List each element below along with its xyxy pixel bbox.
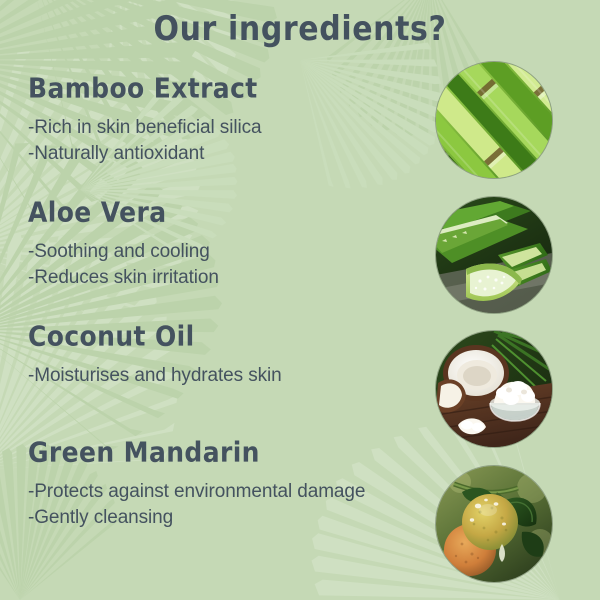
ingredient-block-green-mandarin: Green Mandarin -Protects against environ… [28,436,403,531]
ingredient-heading: Bamboo Extract [28,72,403,104]
green-mandarin-photo [436,466,552,582]
aloe-vera-photo [436,197,552,313]
ingredient-heading: Green Mandarin [28,436,403,468]
ingredient-benefit: -Rich in skin beneficial silica [28,115,403,141]
ingredients-poster: Our ingredients? Bamboo Extract -Rich in… [0,0,600,600]
bamboo-photo [436,62,552,178]
ingredient-benefit: -Protects against environmental damage [28,479,403,505]
ingredient-benefit: -Moisturises and hydrates skin [28,363,403,389]
ingredient-block-bamboo-extract: Bamboo Extract -Rich in skin beneficial … [28,72,403,167]
ingredient-heading: Aloe Vera [28,196,403,228]
coconut-photo [436,331,552,447]
ingredient-heading: Coconut Oil [28,320,403,352]
page-title: Our ingredients? [0,10,600,49]
ingredient-block-aloe-vera: Aloe Vera -Soothing and cooling -Reduces… [28,196,403,291]
ingredient-benefit: -Soothing and cooling [28,239,403,265]
ingredient-benefit: -Reduces skin irritation [28,265,403,291]
ingredient-benefit: -Naturally antioxidant [28,141,403,167]
ingredient-block-coconut-oil: Coconut Oil -Moisturises and hydrates sk… [28,320,403,389]
ingredient-benefit: -Gently cleansing [28,505,403,531]
